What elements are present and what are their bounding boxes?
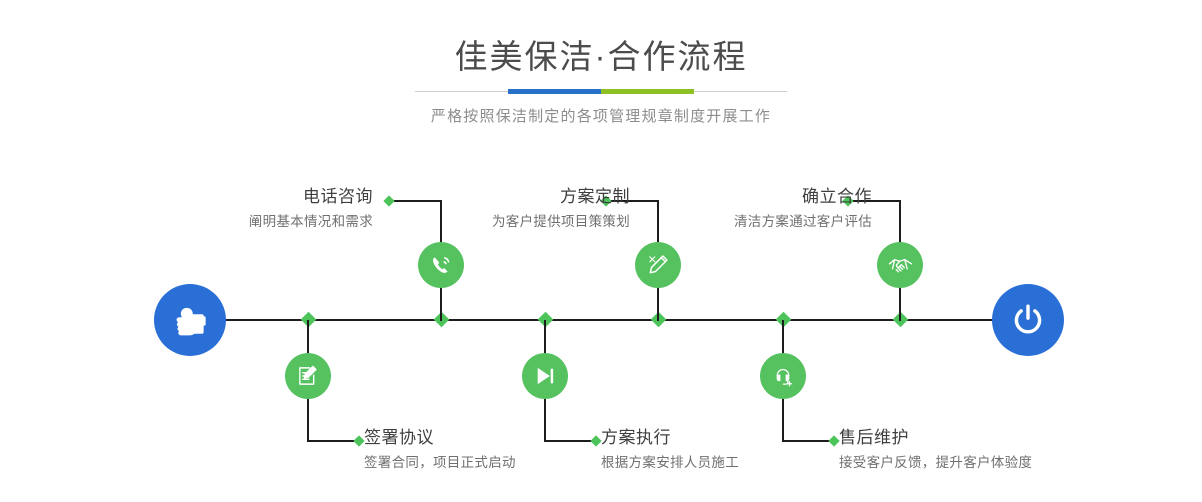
connector-marker-after-sales [828, 435, 839, 446]
step-title: 签署协议 [364, 429, 516, 447]
divider-segment-green [601, 89, 694, 94]
page-subtitle: 严格按照保洁制定的各项管理规章制度开展工作 [0, 94, 1202, 126]
headset-support-icon [770, 363, 796, 389]
connector-hline-phone-consult [389, 200, 441, 202]
step-desc: 签署合同，项目正式启动 [364, 456, 516, 470]
label-after-sales: 售后维护 接受客户反馈，提升客户体验度 [839, 429, 1032, 470]
step-title: 方案执行 [601, 429, 739, 447]
document-pencil-icon [295, 363, 321, 389]
label-plan-customize: 方案定制 为客户提供项目策策划 [492, 188, 630, 229]
node-icon-plan-customize [635, 242, 681, 288]
connector-marker-sign-agreement [353, 435, 364, 446]
timeline-end-node [992, 284, 1064, 356]
node-icon-establish-cooperation [877, 242, 923, 288]
connector-hline-after-sales [782, 440, 834, 442]
node-icon-phone-consult [418, 242, 464, 288]
step-title: 电话咨询 [249, 188, 373, 206]
node-icon-after-sales [760, 353, 806, 399]
step-title: 售后维护 [839, 429, 1032, 447]
cooperation-process-infographic: 佳美保洁·合作流程 严格按照保洁制定的各项管理规章制度开展工作 [0, 0, 1202, 502]
label-sign-agreement: 签署协议 签署合同，项目正式启动 [364, 429, 516, 470]
step-desc: 阐明基本情况和需求 [249, 215, 373, 229]
page-title: 佳美保洁·合作流程 [0, 0, 1202, 77]
step-desc: 根据方案安排人员施工 [601, 456, 739, 470]
pencil-plan-icon [645, 252, 671, 278]
step-desc: 接受客户反馈，提升客户体验度 [839, 456, 1032, 470]
step-title: 确立合作 [734, 188, 872, 206]
node-icon-plan-execute [522, 353, 568, 399]
step-title: 方案定制 [492, 188, 630, 206]
timeline-axis [225, 319, 995, 321]
connector-hline-sign-agreement [307, 440, 359, 442]
step-desc: 清洁方案通过客户评估 [734, 215, 872, 229]
pointing-hand-icon [170, 300, 210, 340]
step-desc: 为客户提供项目策策划 [492, 215, 630, 229]
connector-hline-plan-execute [544, 440, 596, 442]
label-establish-cooperation: 确立合作 清洁方案通过客户评估 [734, 188, 872, 229]
divider-segment-blue [508, 89, 601, 94]
label-phone-consult: 电话咨询 阐明基本情况和需求 [249, 188, 373, 229]
connector-marker-plan-execute [590, 435, 601, 446]
connector-marker-phone-consult [383, 195, 394, 206]
timeline-start-node [154, 284, 226, 356]
node-icon-sign-agreement [285, 353, 331, 399]
play-skip-icon [532, 363, 558, 389]
header: 佳美保洁·合作流程 严格按照保洁制定的各项管理规章制度开展工作 [0, 0, 1202, 126]
label-plan-execute: 方案执行 根据方案安排人员施工 [601, 429, 739, 470]
power-icon [1008, 300, 1048, 340]
title-divider [415, 89, 787, 94]
handshake-icon [887, 252, 914, 279]
phone-icon [428, 252, 454, 278]
